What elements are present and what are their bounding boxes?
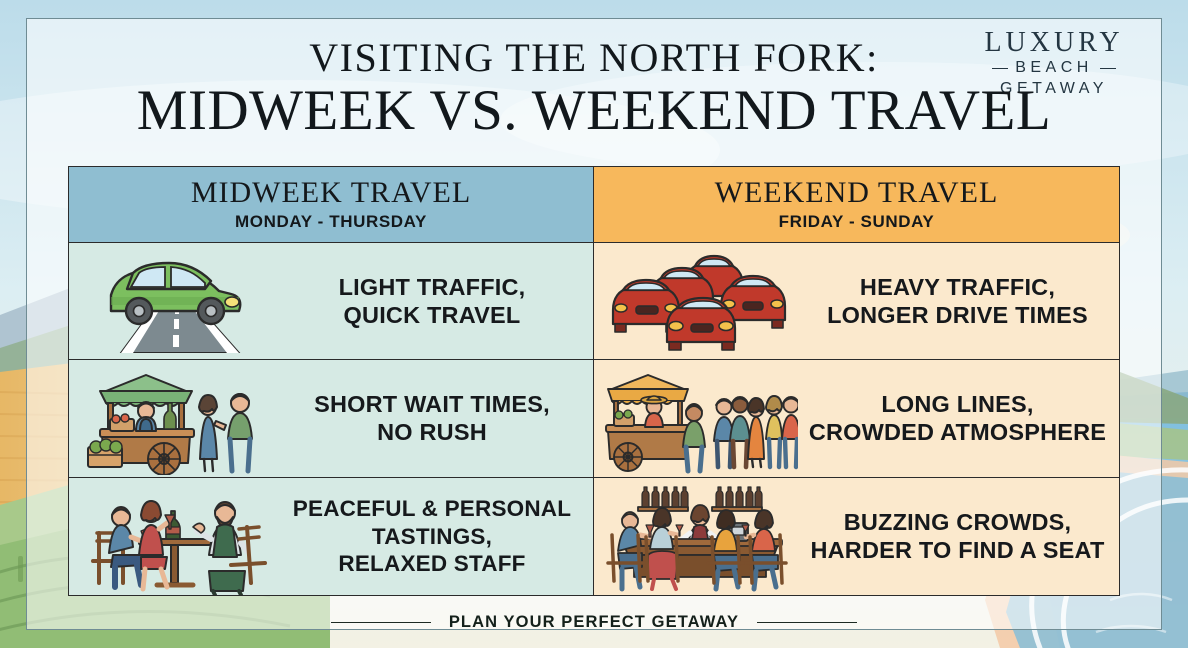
column-header-weekend: WEEKEND TRAVEL FRIDAY - SUNDAY <box>594 167 1119 243</box>
table-row-weekend-crowds: BUZZING CROWDS, HARDER TO FIND A SEAT <box>594 478 1119 595</box>
midweek-row-3-text: PEACEFUL & PERSONAL TASTINGS, RELAXED ST… <box>281 491 593 581</box>
midweek-header-subtitle: MONDAY - THURSDAY <box>235 212 427 232</box>
market-stall-long-queue-icon <box>594 360 806 476</box>
weekend-row-1-text: HEAVY TRAFFIC, LONGER DRIVE TIMES <box>806 269 1119 334</box>
table-row-midweek-waits: SHORT WAIT TIMES, NO RUSH <box>69 360 594 477</box>
midweek-row-2-text: SHORT WAIT TIMES, NO RUSH <box>281 386 593 451</box>
weekend-header-title: WEEKEND TRAVEL <box>715 177 999 209</box>
midweek-header-title: MIDWEEK TRAVEL <box>191 177 471 209</box>
weekend-row-3-text: BUZZING CROWDS, HARDER TO FIND A SEAT <box>806 504 1119 569</box>
table-row-midweek-traffic: LIGHT TRAFFIC, QUICK TRAVEL <box>69 243 594 360</box>
title-line-1: VISITING THE NORTH FORK: <box>0 36 1188 81</box>
footer-rule-left-icon <box>331 622 431 624</box>
infographic-poster: LUXURY BEACH GETAWAY VISITING THE NORTH … <box>0 0 1188 648</box>
footer-rule-right-icon <box>757 622 857 624</box>
column-header-midweek: MIDWEEK TRAVEL MONDAY - THURSDAY <box>69 167 594 243</box>
relaxed-wine-tasting-icon <box>69 478 281 595</box>
weekend-header-subtitle: FRIDAY - SUNDAY <box>779 212 935 232</box>
midweek-row-1-text: LIGHT TRAFFIC, QUICK TRAVEL <box>281 269 593 334</box>
page-title: VISITING THE NORTH FORK: MIDWEEK VS. WEE… <box>0 36 1188 143</box>
red-cars-traffic-jam-icon <box>594 243 806 359</box>
market-stall-few-people-icon <box>69 360 281 476</box>
title-line-2: MIDWEEK VS. WEEKEND TRAVEL <box>0 79 1188 143</box>
comparison-table: MIDWEEK TRAVEL MONDAY - THURSDAY WEEKEND… <box>68 166 1120 596</box>
crowded-tasting-bar-icon <box>594 478 806 595</box>
weekend-row-2-text: LONG LINES, CROWDED ATMOSPHERE <box>806 386 1119 451</box>
green-car-open-road-icon <box>69 243 281 359</box>
footer-text: PLAN YOUR PERFECT GETAWAY <box>449 613 739 632</box>
table-row-weekend-traffic: HEAVY TRAFFIC, LONGER DRIVE TIMES <box>594 243 1119 360</box>
table-row-midweek-tastings: PEACEFUL & PERSONAL TASTINGS, RELAXED ST… <box>69 478 594 595</box>
footer: PLAN YOUR PERFECT GETAWAY <box>0 613 1188 632</box>
table-row-weekend-lines: LONG LINES, CROWDED ATMOSPHERE <box>594 360 1119 477</box>
